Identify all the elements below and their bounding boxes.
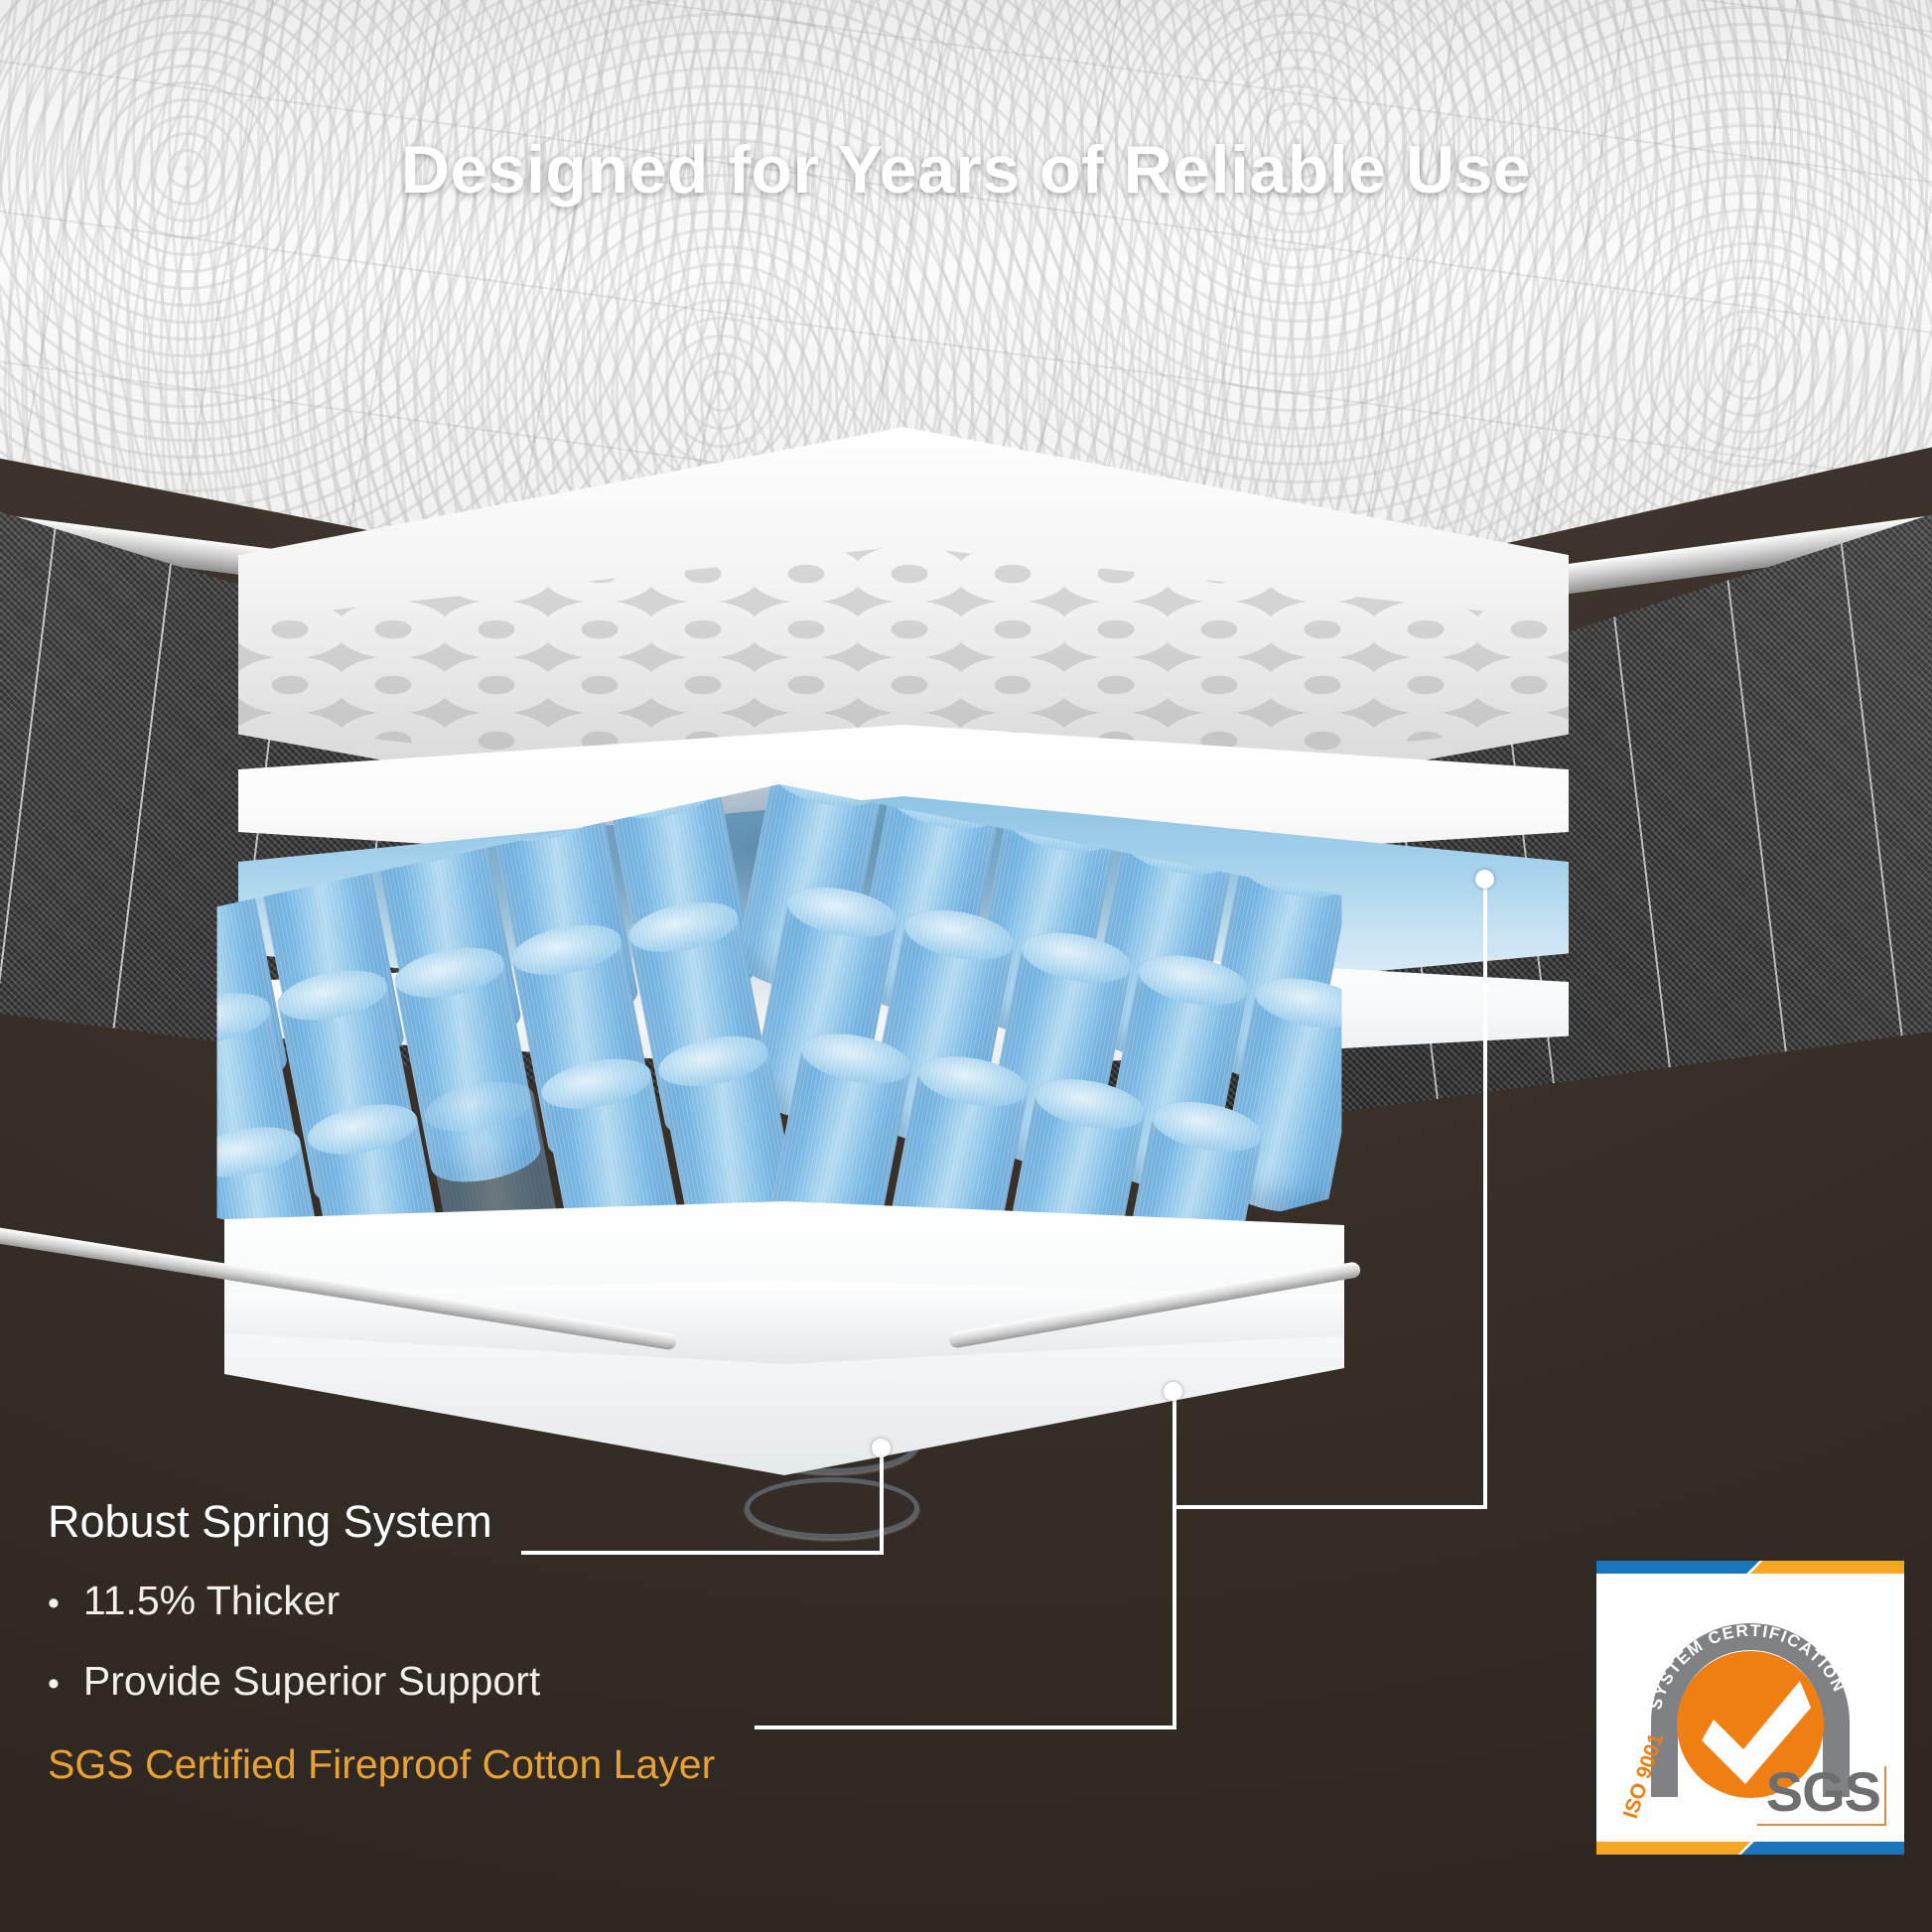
- sgs-wordmark-tick: [1884, 1766, 1886, 1826]
- leader-line-foam-horizontal: [1176, 1505, 1487, 1509]
- badge-bar-blue: [1596, 1561, 1759, 1574]
- sgs-wordmark: SGS: [1766, 1764, 1880, 1820]
- badge-content: SYSTEM CERTIFICATION ISO 9001 SGS: [1596, 1574, 1904, 1842]
- badge-bottom-bar: [1596, 1842, 1904, 1855]
- callout-bullet-item: • 11.5% Thicker: [48, 1578, 941, 1624]
- product-infographic: Designed for Years of Reliable Use Robus…: [0, 0, 1932, 1932]
- headline-title: Designed for Years of Reliable Use: [0, 131, 1932, 208]
- sgs-wordmark-underline: [1757, 1824, 1886, 1826]
- bullet-marker-icon: •: [48, 1587, 60, 1620]
- leader-dot-cotton: [1164, 1382, 1182, 1401]
- leader-dot-spring: [872, 1439, 891, 1457]
- callout-sgs-cotton-layer: SGS Certified Fireproof Cotton Layer: [48, 1744, 941, 1785]
- leader-dot-foam: [1475, 870, 1494, 889]
- leader-line-foam-vertical: [1483, 884, 1487, 1509]
- callout-heading-spring-system: Robust Spring System: [48, 1499, 941, 1544]
- badge-bar-blue: [1741, 1842, 1904, 1855]
- mattress-illustration: [0, 0, 1932, 1509]
- badge-bar-orange: [1750, 1561, 1904, 1574]
- sgs-certification-badge: SYSTEM CERTIFICATION ISO 9001 SGS: [1596, 1561, 1904, 1855]
- callout-bullet-item: • Provide Superior Support: [48, 1658, 941, 1705]
- callout-bullet-label: Provide Superior Support: [83, 1658, 540, 1705]
- callout-bullet-label: 11.5% Thicker: [83, 1578, 340, 1624]
- bullet-marker-icon: •: [48, 1667, 60, 1701]
- badge-top-bar: [1596, 1561, 1904, 1574]
- badge-bar-orange: [1596, 1842, 1750, 1855]
- callout-text-block: Robust Spring System • 11.5% Thicker • P…: [48, 1499, 941, 1785]
- leader-line-cotton-vertical: [1173, 1396, 1176, 1729]
